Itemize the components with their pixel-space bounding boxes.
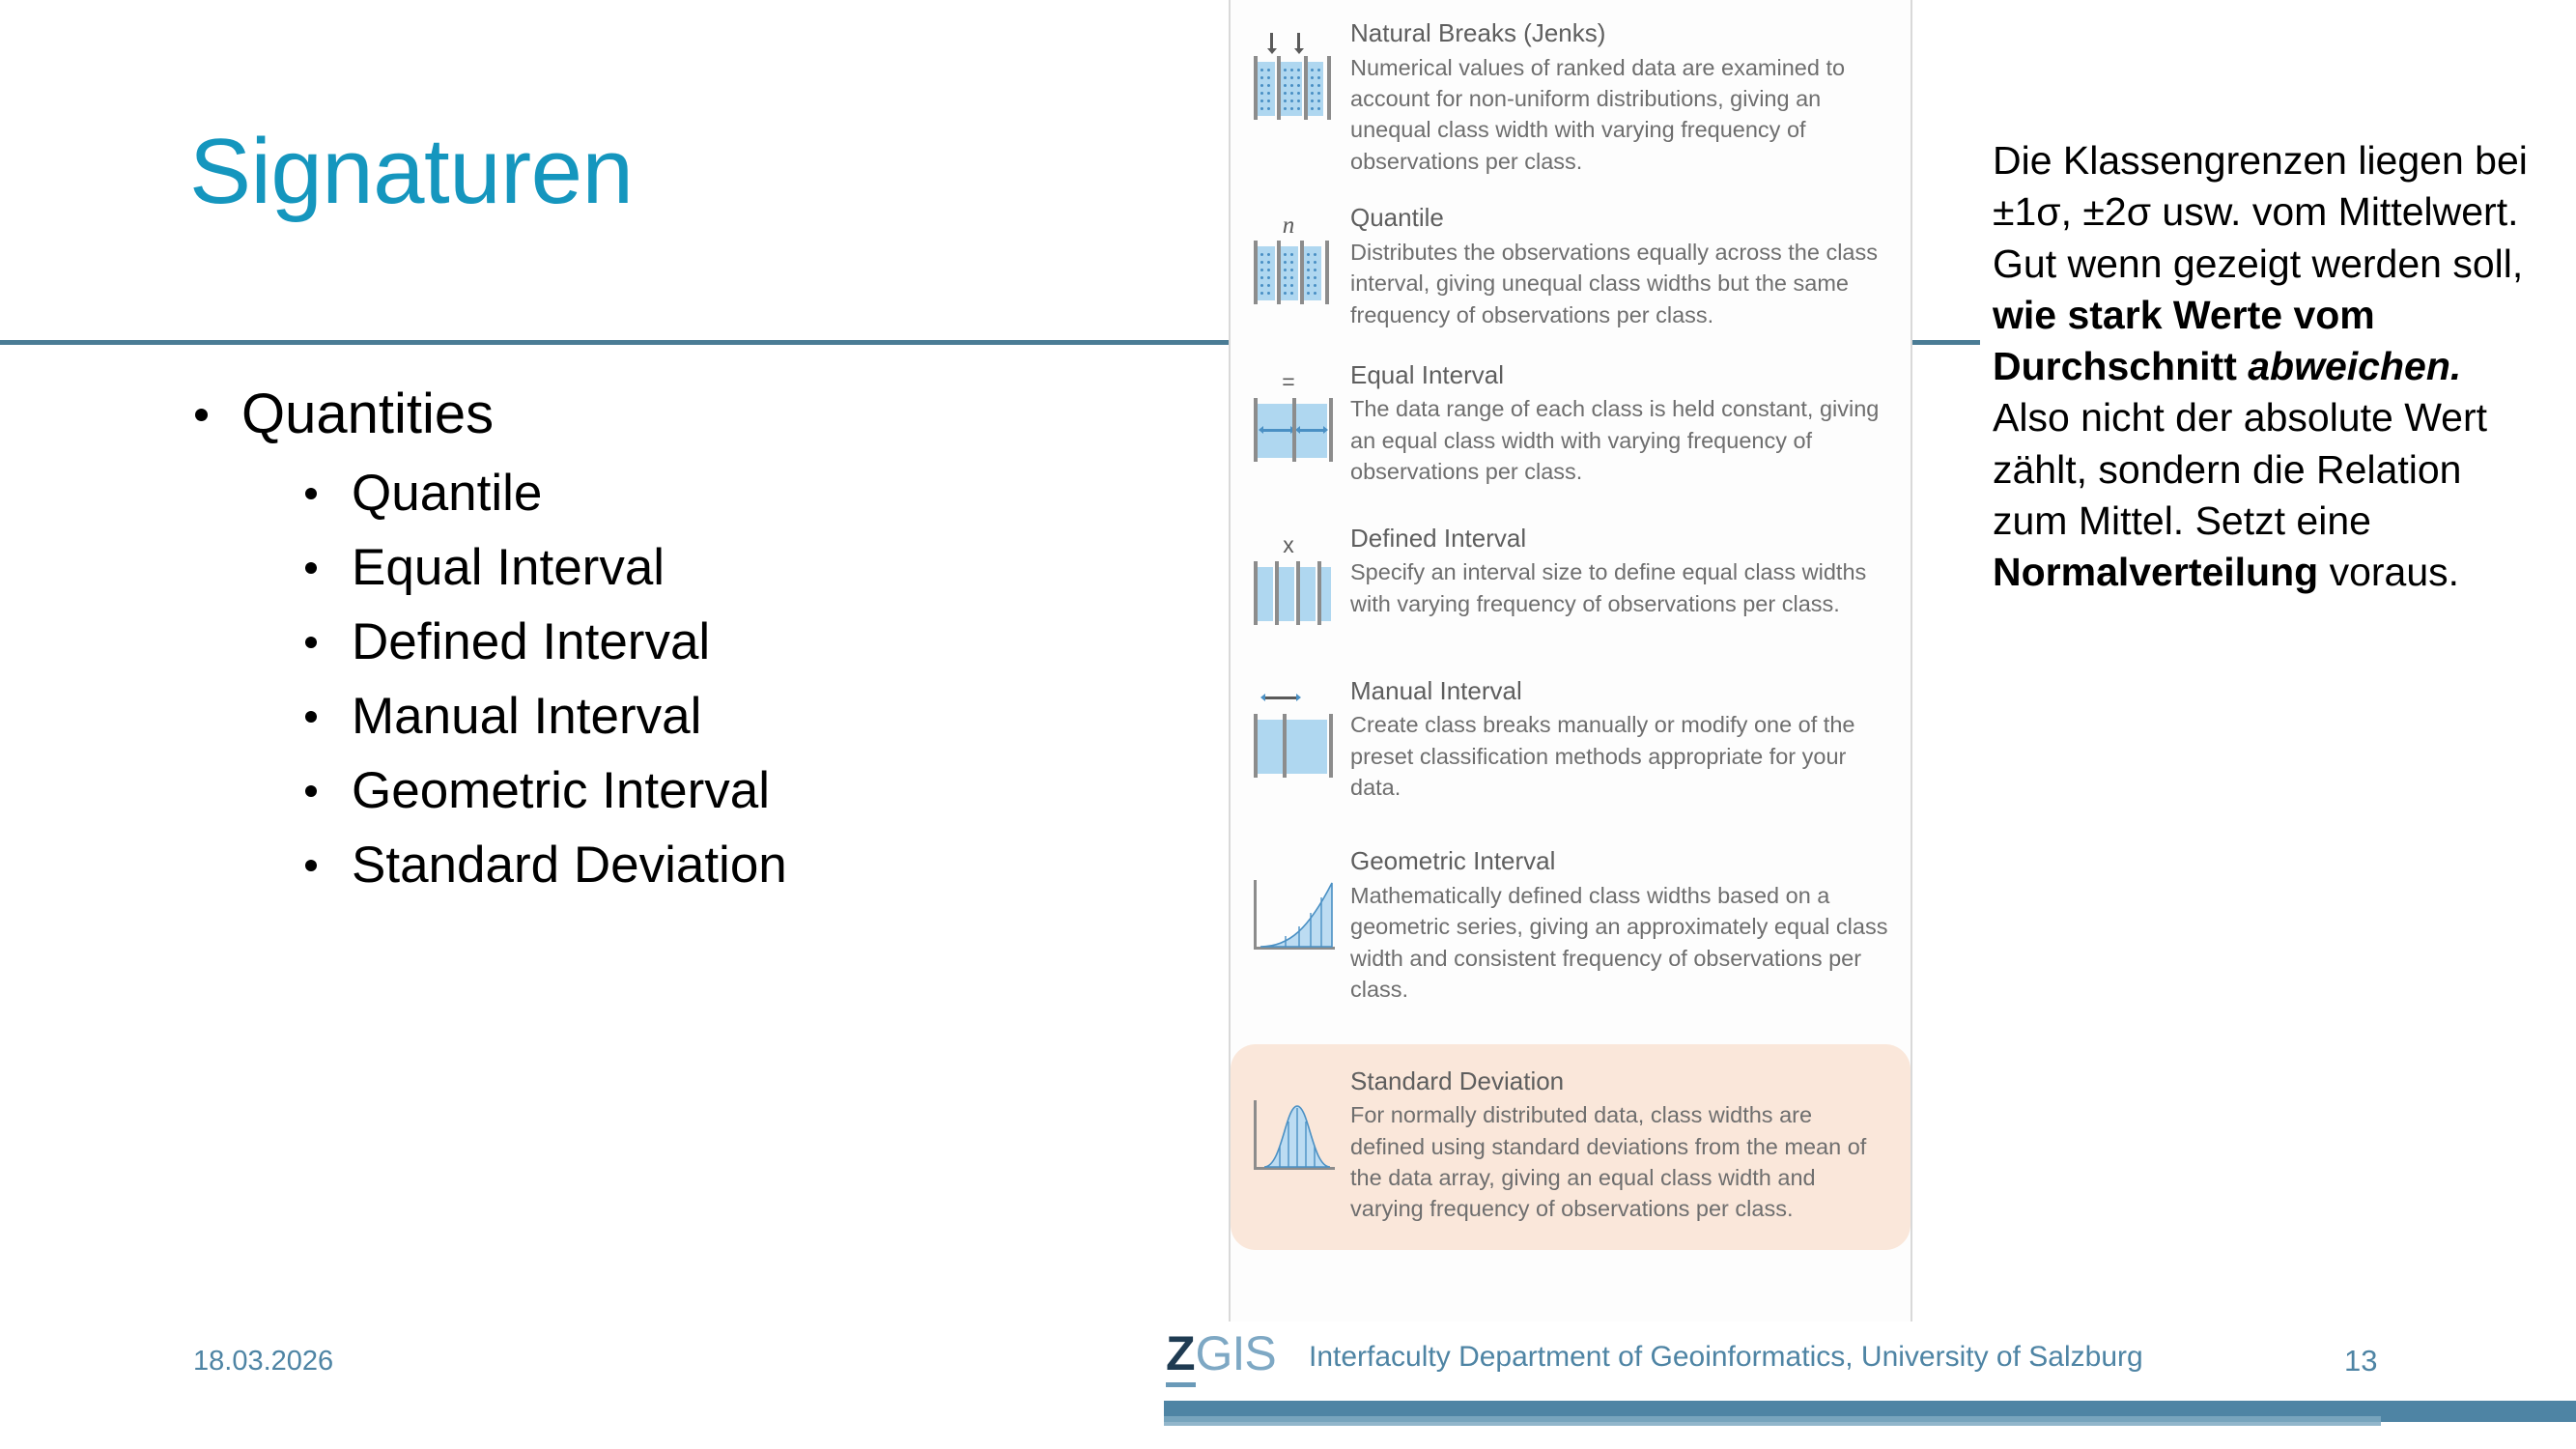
german-note-part2: Also nicht der absolute Wert zählt, sond… <box>1993 395 2487 543</box>
bullet-level2-label: Equal Interval <box>352 539 665 596</box>
footer-department: Interfaculty Department of Geoinformatic… <box>1309 1341 2143 1374</box>
slide: Signaturen Quantities Quantile Equal Int… <box>0 0 2576 1449</box>
method-item-quantile[interactable]: n Quantile Distributes the observations … <box>1231 202 1911 330</box>
classification-methods-panel: Natural Breaks (Jenks) Numerical values … <box>1229 0 1912 1321</box>
bullet-level2-defined-interval: Defined Interval <box>182 616 1205 668</box>
bullet-dot-icon <box>305 860 317 871</box>
equal-interval-icon: = <box>1244 373 1345 473</box>
footer-date: 18.03.2026 <box>193 1346 333 1378</box>
manual-interval-icon <box>1244 689 1345 789</box>
footer-bar-secondary <box>1164 1416 2381 1426</box>
method-title: Geometric Interval <box>1350 845 1889 877</box>
method-description: Specify an interval size to define equal… <box>1350 556 1889 619</box>
bullet-level1-label: Quantities <box>241 383 494 445</box>
bullet-dot-icon <box>305 637 317 648</box>
method-item-equal-interval[interactable]: = Equal Interval The data range of each … <box>1231 359 1911 488</box>
german-note-part3: voraus. <box>2318 550 2459 594</box>
bullet-level2-manual-interval: Manual Interval <box>182 691 1205 742</box>
method-item-standard-deviation[interactable]: Standard Deviation For normally distribu… <box>1231 1044 1911 1250</box>
method-title: Natural Breaks (Jenks) <box>1350 17 1889 49</box>
title-divider-left <box>0 340 1229 345</box>
bullet-level2-quantile: Quantile <box>182 468 1205 519</box>
zgis-logo-z: Z <box>1166 1326 1196 1387</box>
method-description: Mathematically defined class widths base… <box>1350 880 1889 1006</box>
page-number: 13 <box>2344 1344 2377 1378</box>
bullet-dot-icon <box>305 562 317 574</box>
bullet-dot-icon <box>305 711 317 723</box>
bullet-level2-label: Manual Interval <box>352 688 701 745</box>
quantile-icon-label: n <box>1244 213 1333 238</box>
bullet-level2-label: Standard Deviation <box>352 837 787 894</box>
standard-deviation-icon <box>1244 1079 1345 1179</box>
german-note-italic1: abweichen. <box>2248 344 2461 388</box>
german-note: Die Klassengrenzen liegen bei ±1σ, ±2σ u… <box>1993 135 2534 599</box>
method-description: Numerical values of ranked data are exam… <box>1350 52 1889 178</box>
german-note-part1: Die Klassengrenzen liegen bei ±1σ, ±2σ u… <box>1993 138 2528 286</box>
page-title: Signaturen <box>189 124 633 221</box>
method-item-natural-breaks[interactable]: Natural Breaks (Jenks) Numerical values … <box>1231 17 1911 177</box>
bullet-level2-standard-deviation: Standard Deviation <box>182 839 1205 891</box>
method-title: Manual Interval <box>1350 675 1889 707</box>
bullet-level1: Quantities <box>182 386 1205 442</box>
bullet-level2-label: Quantile <box>352 465 542 522</box>
method-description: For normally distributed data, class wid… <box>1350 1099 1889 1225</box>
defined-interval-icon-label: x <box>1244 534 1333 556</box>
method-description: Create class breaks manually or modify o… <box>1350 709 1889 803</box>
bullet-level2-label: Defined Interval <box>352 613 710 670</box>
defined-interval-icon: x <box>1244 536 1345 637</box>
natural-breaks-icon <box>1244 31 1345 131</box>
geometric-interval-icon <box>1244 859 1345 959</box>
quantile-icon: n <box>1244 215 1345 316</box>
method-description: The data range of each class is held con… <box>1350 393 1889 487</box>
zgis-logo-gis: GIS <box>1196 1326 1276 1380</box>
method-title: Quantile <box>1350 202 1889 234</box>
method-item-defined-interval[interactable]: x Defined Interval Specify an interval s… <box>1231 523 1911 637</box>
method-title: Standard Deviation <box>1350 1065 1889 1097</box>
method-title: Equal Interval <box>1350 359 1889 391</box>
bullet-dot-icon <box>305 785 317 797</box>
german-note-bold2: Normalverteilung <box>1993 550 2318 594</box>
bullet-dot-icon <box>195 409 208 421</box>
bullet-dot-icon <box>305 488 317 499</box>
title-divider-right <box>1911 340 1980 345</box>
bullet-list: Quantities Quantile Equal Interval Defin… <box>182 386 1205 914</box>
method-item-manual-interval[interactable]: Manual Interval Create class breaks manu… <box>1231 675 1911 804</box>
method-item-geometric-interval[interactable]: Geometric Interval Mathematically define… <box>1231 845 1911 1005</box>
bullet-level2-equal-interval: Equal Interval <box>182 542 1205 593</box>
bullet-level2-label: Geometric Interval <box>352 762 770 819</box>
method-description: Distributes the observations equally acr… <box>1350 237 1889 330</box>
equal-interval-icon-label: = <box>1244 371 1333 393</box>
method-title: Defined Interval <box>1350 523 1889 554</box>
zgis-logo: ZGIS <box>1166 1329 1276 1378</box>
bullet-level2-geometric-interval: Geometric Interval <box>182 765 1205 816</box>
